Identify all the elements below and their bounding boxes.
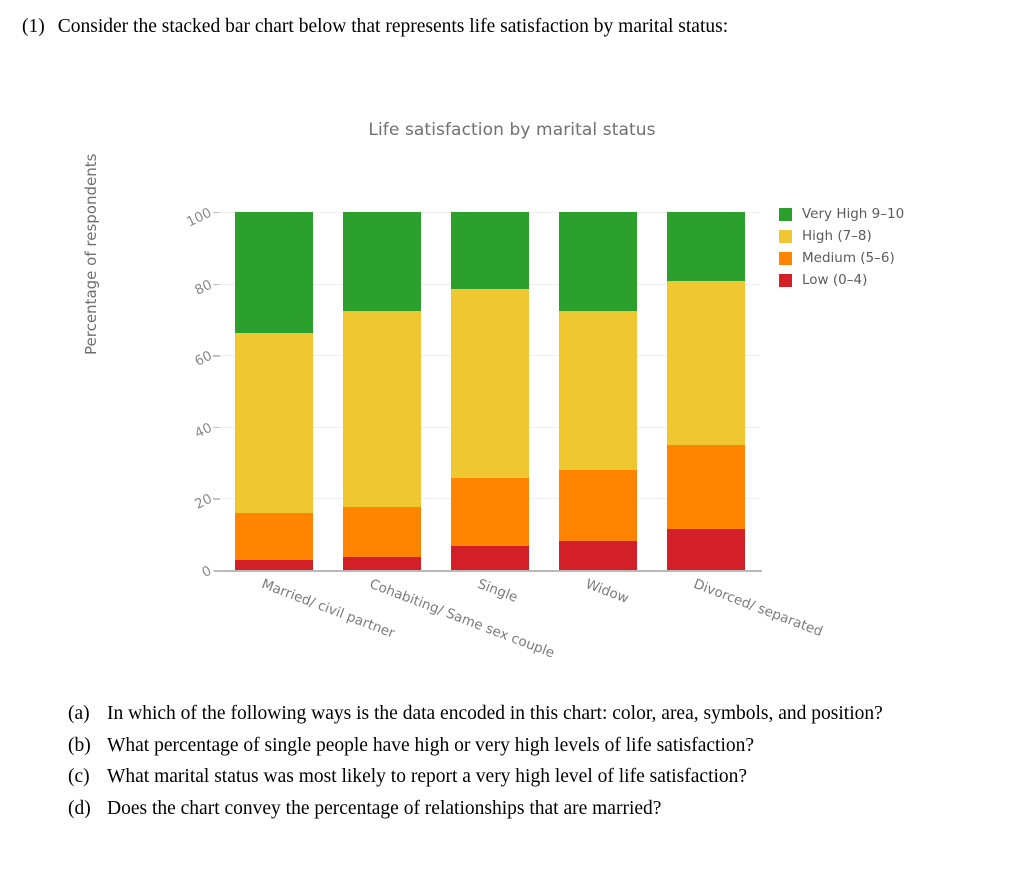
chart-title: Life satisfaction by marital status bbox=[0, 120, 1024, 140]
legend-label: Medium (5–6) bbox=[802, 250, 895, 266]
bar-1 bbox=[235, 212, 313, 570]
bar-segment-very-high bbox=[559, 212, 637, 311]
question-stem: (1) Consider the stacked bar chart below… bbox=[22, 14, 1004, 40]
bar-segment-low bbox=[451, 546, 529, 570]
bar-segment-medium bbox=[559, 470, 637, 541]
y-axis-title: Percentage of respondents bbox=[82, 154, 100, 355]
bar-2 bbox=[343, 212, 421, 570]
legend-swatch-icon bbox=[779, 208, 792, 221]
x-tick-label: Single bbox=[475, 576, 519, 606]
subquestion-text: Does the chart convey the percentage of … bbox=[107, 795, 994, 823]
bar-segment-high bbox=[235, 333, 313, 513]
subquestion: (a)In which of the following ways is the… bbox=[68, 700, 994, 728]
bar-segment-high bbox=[667, 281, 745, 445]
bar-segment-low bbox=[667, 529, 745, 570]
y-tick-label: 80 bbox=[192, 276, 214, 298]
legend-swatch-icon bbox=[779, 252, 792, 265]
bar-segment-very-high bbox=[451, 212, 529, 289]
bar-5 bbox=[667, 212, 745, 570]
question-prompt: Consider the stacked bar chart below tha… bbox=[58, 14, 1004, 40]
subquestion: (c)What marital status was most likely t… bbox=[68, 763, 994, 791]
legend-label: Very High 9–10 bbox=[802, 206, 904, 222]
subquestion-text: What percentage of single people have hi… bbox=[107, 732, 994, 760]
legend-swatch-icon bbox=[779, 230, 792, 243]
chart-legend: Very High 9–10High (7–8)Medium (5–6)Low … bbox=[779, 203, 904, 291]
bar-segment-very-high bbox=[235, 212, 313, 333]
bar-3 bbox=[451, 212, 529, 570]
bar-segment-high bbox=[343, 311, 421, 507]
subquestion-label: (d) bbox=[68, 795, 96, 823]
x-tick-label: Widow bbox=[583, 576, 630, 607]
subquestion: (b)What percentage of single people have… bbox=[68, 732, 994, 760]
subquestion: (d)Does the chart convey the percentage … bbox=[68, 795, 994, 823]
legend-item[interactable]: Medium (5–6) bbox=[779, 247, 904, 269]
y-tick-label: 0 bbox=[200, 563, 215, 581]
bar-segment-medium bbox=[667, 445, 745, 529]
subquestion-text: In which of the following ways is the da… bbox=[107, 700, 994, 728]
bar-segment-low bbox=[235, 560, 313, 570]
bar-4 bbox=[559, 212, 637, 570]
bar-segment-medium bbox=[235, 513, 313, 560]
bar-segment-very-high bbox=[667, 212, 745, 281]
bar-segment-medium bbox=[451, 478, 529, 546]
bar-segment-low bbox=[559, 541, 637, 570]
plot-area: 020406080100Married/ civil partnerCohabi… bbox=[220, 212, 760, 570]
y-tick-label: 20 bbox=[192, 491, 214, 513]
bar-segment-high bbox=[559, 311, 637, 470]
legend-item[interactable]: Very High 9–10 bbox=[779, 203, 904, 225]
bar-segment-very-high bbox=[343, 212, 421, 311]
y-tick-mark bbox=[213, 284, 220, 285]
y-tick-label: 40 bbox=[192, 420, 214, 442]
subquestion-label: (c) bbox=[68, 763, 96, 791]
y-tick-label: 100 bbox=[184, 205, 214, 231]
subquestion-list: (a)In which of the following ways is the… bbox=[68, 700, 994, 826]
bar-segment-low bbox=[343, 557, 421, 570]
bar-segment-high bbox=[451, 289, 529, 478]
legend-label: High (7–8) bbox=[802, 228, 872, 244]
x-axis-line bbox=[214, 570, 762, 572]
legend-item[interactable]: Low (0–4) bbox=[779, 269, 904, 291]
y-tick-mark bbox=[213, 427, 220, 428]
subquestion-text: What marital status was most likely to r… bbox=[107, 763, 994, 791]
y-tick-mark bbox=[213, 498, 220, 499]
subquestion-label: (b) bbox=[68, 732, 96, 760]
legend-item[interactable]: High (7–8) bbox=[779, 225, 904, 247]
chart-figure: Life satisfaction by marital status Perc… bbox=[0, 100, 1024, 670]
legend-swatch-icon bbox=[779, 274, 792, 287]
y-tick-label: 60 bbox=[192, 348, 214, 370]
x-tick-label: Cohabiting/ Same sex couple bbox=[367, 576, 556, 661]
y-tick-mark bbox=[213, 570, 220, 571]
y-tick-mark bbox=[213, 355, 220, 356]
bar-segment-medium bbox=[343, 507, 421, 557]
question-number: (1) bbox=[22, 14, 45, 40]
y-tick-mark bbox=[213, 212, 220, 213]
x-tick-label: Divorced/ separated bbox=[691, 576, 825, 640]
subquestion-label: (a) bbox=[68, 700, 96, 728]
legend-label: Low (0–4) bbox=[802, 272, 867, 288]
